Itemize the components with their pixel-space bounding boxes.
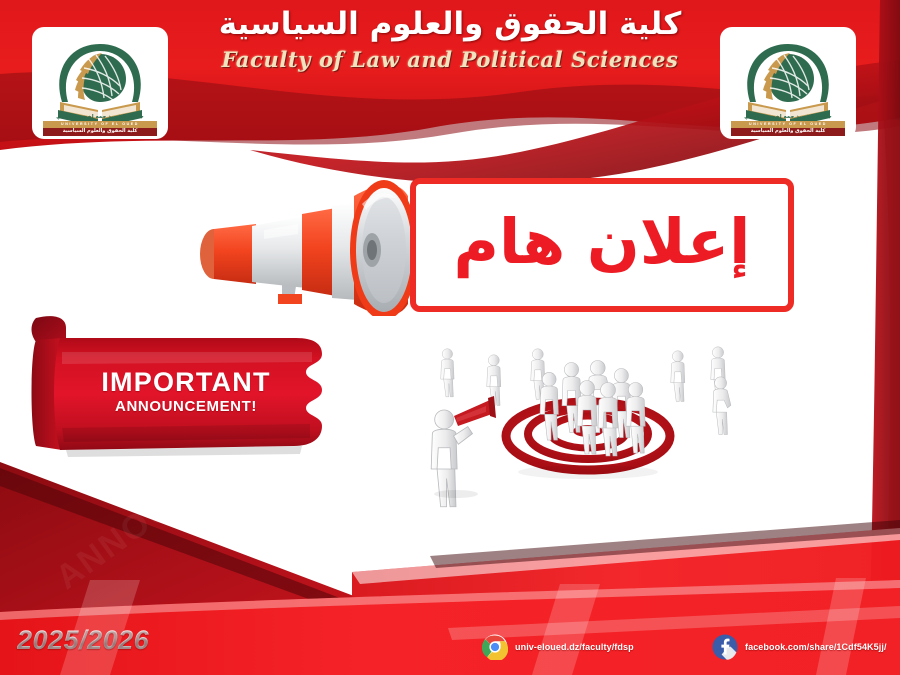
website-link-label: univ-eloued.dz/faculty/fdsp [515, 642, 634, 652]
logo-university-name-ar: جامعة الشهيد حمه لخضر - الوادي [731, 114, 845, 121]
logo-faculty-name-ar: كلية الحقوق والعلوم السياسية [43, 128, 157, 136]
facebook-link[interactable]: facebook.com/share/1Cdf54K5jj/ [712, 634, 887, 660]
chrome-icon [482, 634, 508, 660]
logo-university-name-en: UNIVERSITY OF EL OUED [43, 121, 157, 128]
crowd-on-target-icon [412, 332, 764, 510]
ribbon-graphic [22, 312, 344, 460]
announcer-figure [431, 396, 496, 507]
academic-year: 2025/2026 [17, 625, 149, 656]
facebook-icon [712, 634, 738, 660]
crowd-target-graphic [412, 332, 764, 510]
logo-caption-right: جامعة الشهيد حمه لخضر - الوادي UNIVERSIT… [731, 114, 845, 136]
logo-university-name-ar: جامعة الشهيد حمه لخضر - الوادي [43, 114, 157, 121]
logo-university-name-en: UNIVERSITY OF EL OUED [731, 121, 845, 128]
logo-faculty-name-ar: كلية الحقوق والعلوم السياسية [731, 128, 845, 136]
headline-box: إعلان هام [410, 178, 794, 312]
announcement-poster: ANNOUNCE كلية الحقوق والعلوم السياسية Fa… [0, 0, 900, 675]
page-title-arabic: كلية الحقوق والعلوم السياسية [190, 6, 710, 43]
logo-caption-left: جامعة الشهيد حمه لخضر - الوادي UNIVERSIT… [43, 114, 157, 136]
important-announcement-ribbon: IMPORTANT ANNOUNCEMENT! [22, 312, 344, 460]
headline-group: إعلان هام [186, 168, 810, 318]
university-logo-right: جامعة الشهيد حمه لخضر - الوادي UNIVERSIT… [720, 27, 856, 139]
poster-footer: 2025/2026 univ-eloued.dz/faculty/fdsp fa… [0, 609, 900, 675]
megaphone-icon [186, 176, 436, 316]
university-logo-left: جامعة الشهيد حمه لخضر - الوادي UNIVERSIT… [32, 27, 168, 139]
page-title-english: Faculty of Law and Political Sciences [190, 47, 710, 72]
headline-text-arabic: إعلان هام [454, 211, 751, 279]
facebook-link-label: facebook.com/share/1Cdf54K5jj/ [745, 642, 887, 652]
header-title-block: كلية الحقوق والعلوم السياسية Faculty of … [190, 6, 710, 72]
website-link[interactable]: univ-eloued.dz/faculty/fdsp [482, 634, 634, 660]
